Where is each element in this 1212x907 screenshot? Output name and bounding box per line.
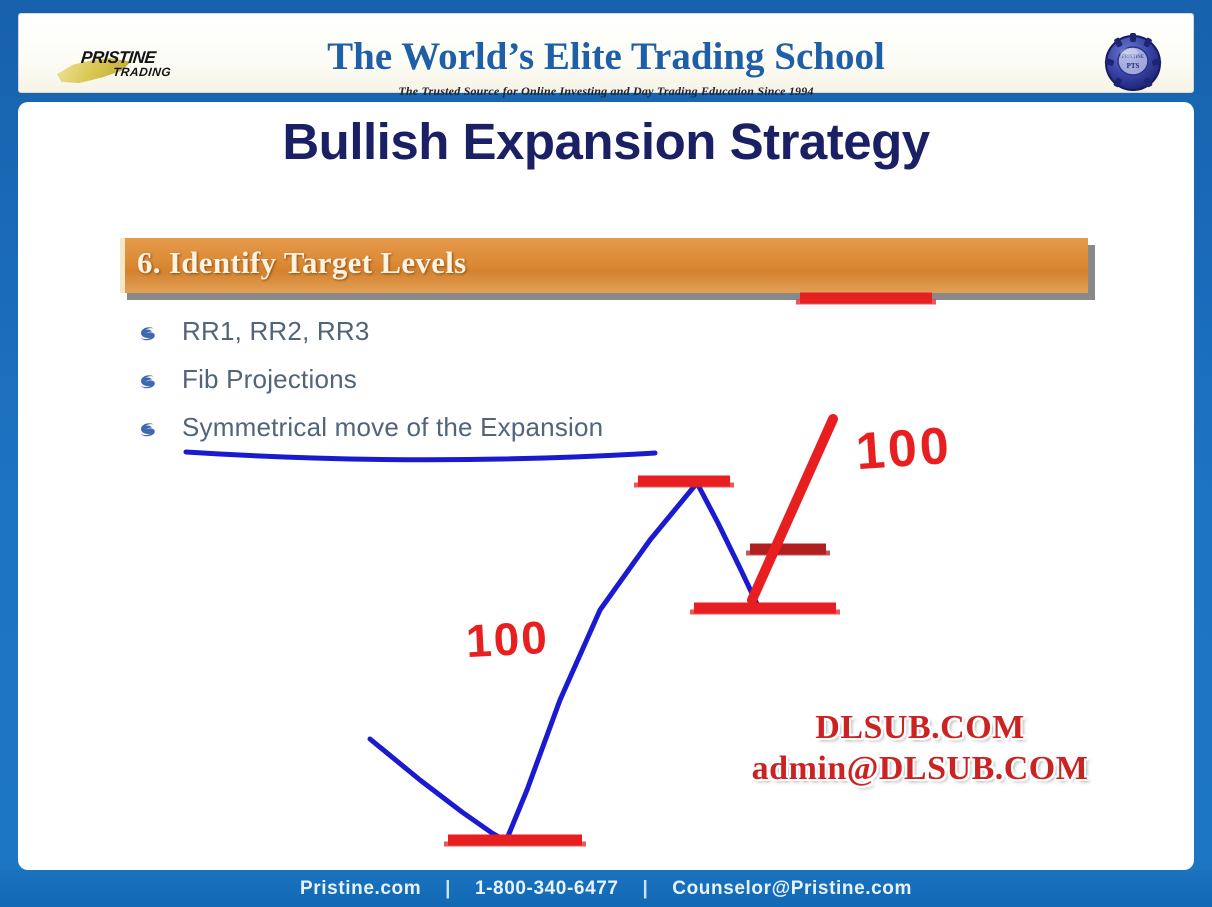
page-title: Bullish Expansion Strategy [18, 112, 1194, 171]
measure-label-upper: 100 [854, 416, 954, 483]
watermark-line-2: admin@DLSUB.COM [690, 748, 1150, 790]
footer-email[interactable]: Counselor@Pristine.com [672, 878, 912, 899]
swirl-bullet-icon [135, 371, 161, 394]
footer-separator-2: | [624, 878, 666, 900]
list-item-label: RR1, RR2, RR3 [182, 316, 370, 347]
list-item-label: Symmetrical move of the Expansion [182, 412, 603, 443]
footer-site[interactable]: Pristine.com [300, 878, 421, 899]
header-panel: PRISTINE TRADING The World’s Elite Tradi… [18, 13, 1194, 93]
footer-contact: Pristine.com | 1-800-340-6477 | Counselo… [300, 878, 912, 900]
footer-bar: Pristine.com | 1-800-340-6477 | Counselo… [0, 870, 1212, 907]
watermark-line-1: DLSUB.COM [690, 708, 1150, 748]
watermark: DLSUB.COM admin@DLSUB.COM [690, 708, 1150, 790]
swirl-bullet-icon [135, 323, 161, 346]
bullet-list: RR1, RR2, RR3 Fib Projections Symmetrica… [138, 316, 778, 460]
list-item: Fib Projections [138, 364, 778, 412]
pristine-seal-icon: PRISTINE PTS [1101, 31, 1165, 93]
section-banner: 6. Identify Target Levels [120, 238, 1088, 293]
list-item-label: Fib Projections [182, 364, 357, 395]
swirl-bullet-icon [135, 419, 161, 442]
list-item: RR1, RR2, RR3 [138, 316, 778, 364]
section-banner-label: 6. Identify Target Levels [137, 245, 467, 281]
header-subtitle: The Trusted Source for Online Investing … [19, 84, 1193, 99]
slide-root: PRISTINE TRADING The World’s Elite Tradi… [0, 0, 1212, 907]
footer-separator-1: | [427, 878, 469, 900]
svg-text:PTS: PTS [1127, 62, 1140, 70]
measure-label-lower: 100 [465, 610, 550, 668]
list-item: Symmetrical move of the Expansion [138, 412, 778, 460]
footer-phone[interactable]: 1-800-340-6477 [475, 878, 619, 899]
header-title: The World’s Elite Trading School [19, 36, 1193, 78]
